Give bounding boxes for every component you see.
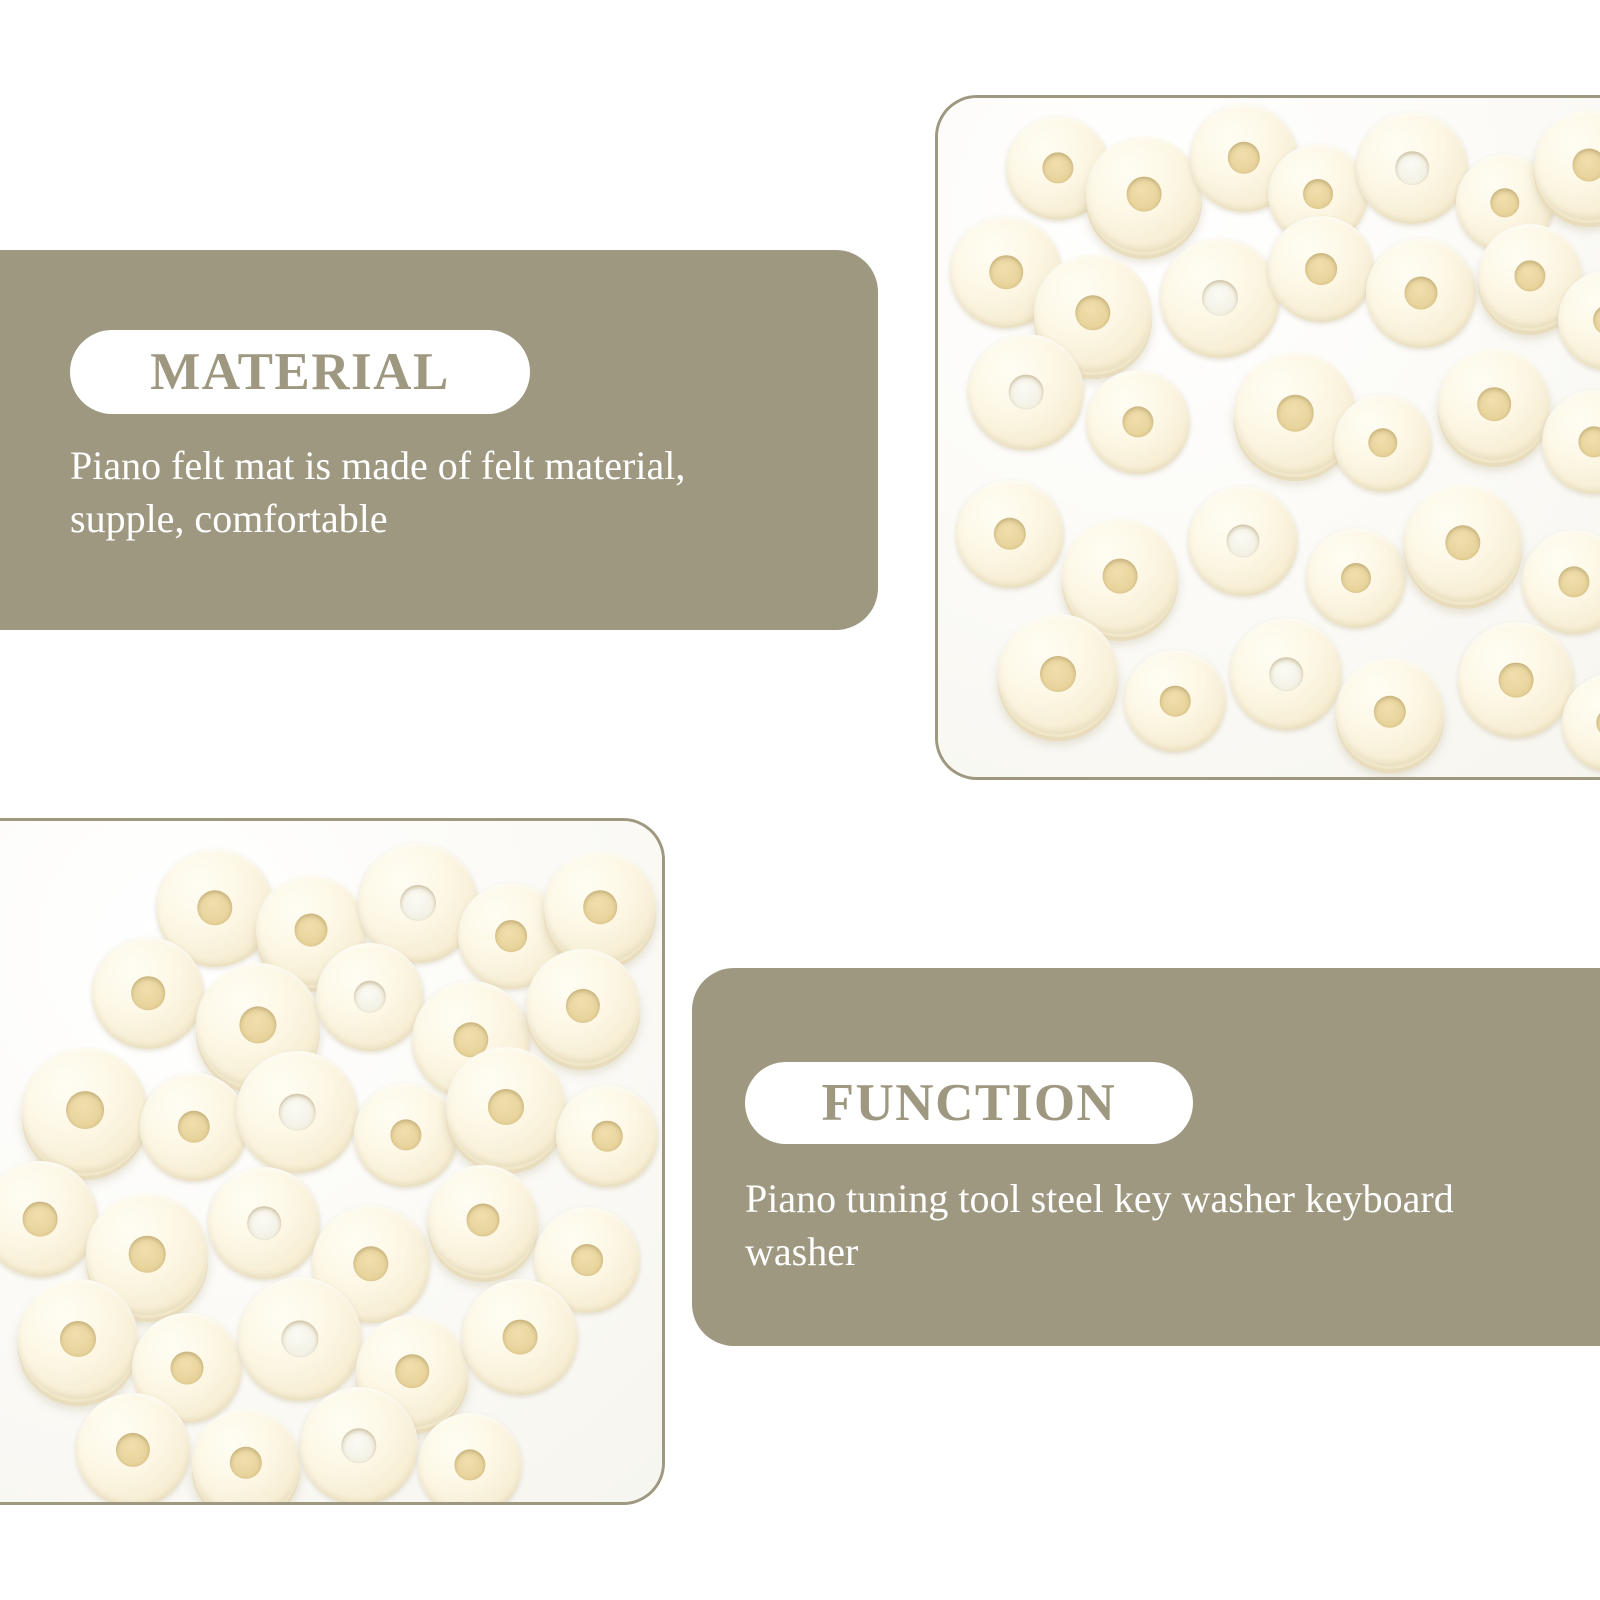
felt-washer xyxy=(418,1413,522,1505)
felt-washer xyxy=(354,1083,458,1187)
felt-washer xyxy=(208,1167,320,1279)
felt-washer xyxy=(236,1051,358,1173)
product-infographic: MATERIAL Piano felt mat is made of felt … xyxy=(0,0,1600,1600)
felt-washer xyxy=(1356,112,1468,224)
felt-washer xyxy=(140,1073,248,1181)
felt-washer xyxy=(1438,348,1550,460)
function-title: FUNCTION xyxy=(822,1077,1117,1130)
felt-washer xyxy=(316,943,424,1051)
felt-washer xyxy=(300,1387,418,1505)
felt-washer xyxy=(76,1393,190,1505)
felt-washer xyxy=(1306,528,1406,628)
felt-washer xyxy=(1458,622,1574,738)
material-description: Piano felt mat is made of felt material,… xyxy=(70,440,790,546)
felt-washer xyxy=(462,1279,578,1395)
felt-washer xyxy=(1160,238,1280,358)
function-title-pill: FUNCTION xyxy=(745,1062,1193,1144)
felt-washer xyxy=(1522,530,1600,634)
material-title-pill: MATERIAL xyxy=(70,330,530,414)
felt-washer xyxy=(18,1279,138,1399)
felt-washer xyxy=(238,1277,362,1401)
felt-washer xyxy=(968,334,1084,450)
felt-washer xyxy=(998,614,1118,734)
felt-washer xyxy=(92,937,204,1049)
felt-washer xyxy=(1268,216,1374,322)
felt-washer xyxy=(1366,238,1476,348)
felt-washer xyxy=(1086,370,1190,474)
felt-washer xyxy=(1062,518,1178,634)
function-panel: FUNCTION Piano tuning tool steel key was… xyxy=(692,968,1600,1346)
felt-washer xyxy=(544,851,656,963)
felt-washer xyxy=(1086,136,1202,252)
felt-washer xyxy=(1188,486,1298,596)
product-photo-bottom-left xyxy=(0,818,665,1505)
felt-washer xyxy=(526,949,640,1063)
felt-washer xyxy=(1336,658,1444,766)
felt-washer xyxy=(556,1085,658,1187)
felt-washer xyxy=(446,1047,566,1167)
felt-washer xyxy=(428,1165,538,1275)
photo-background xyxy=(938,98,1600,777)
material-panel: MATERIAL Piano felt mat is made of felt … xyxy=(0,250,878,630)
function-description: Piano tuning tool steel key washer keybo… xyxy=(745,1173,1575,1279)
material-title: MATERIAL xyxy=(150,346,450,399)
felt-washer xyxy=(0,1161,98,1277)
product-photo-top-right xyxy=(935,95,1600,780)
felt-washer xyxy=(1404,484,1522,602)
felt-washer xyxy=(956,480,1064,588)
photo-background xyxy=(0,821,662,1502)
felt-washer xyxy=(192,1409,300,1505)
felt-washer xyxy=(22,1047,148,1173)
felt-washer xyxy=(1230,618,1342,730)
felt-washer xyxy=(1334,394,1432,492)
felt-washer xyxy=(1124,650,1226,752)
felt-washer xyxy=(1542,390,1600,494)
